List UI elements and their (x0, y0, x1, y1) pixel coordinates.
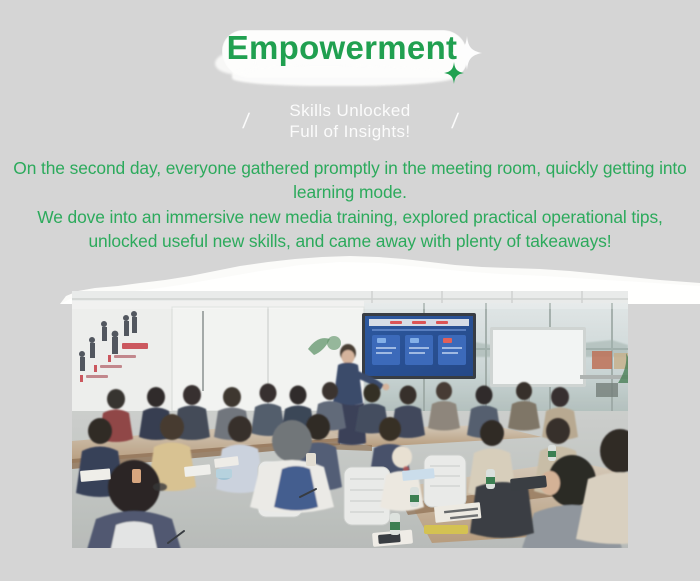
subtitle-line-2: Full of Insights! (0, 121, 700, 142)
subtitle-line-1: Skills Unlocked (0, 100, 700, 121)
title-block: Empowerment (0, 22, 700, 92)
subtitle-block: / / Skills Unlocked Full of Insights! (0, 100, 700, 142)
page-title: Empowerment (0, 22, 700, 74)
body-paragraph-2: We dove into an immersive new media trai… (8, 206, 692, 253)
meeting-room-photo (72, 291, 628, 548)
body-paragraph-1: On the second day, everyone gathered pro… (8, 157, 692, 204)
poster-canvas: Empowerment / / Skills Unlocked Full of … (0, 0, 700, 581)
body-text-block: On the second day, everyone gathered pro… (8, 157, 692, 253)
